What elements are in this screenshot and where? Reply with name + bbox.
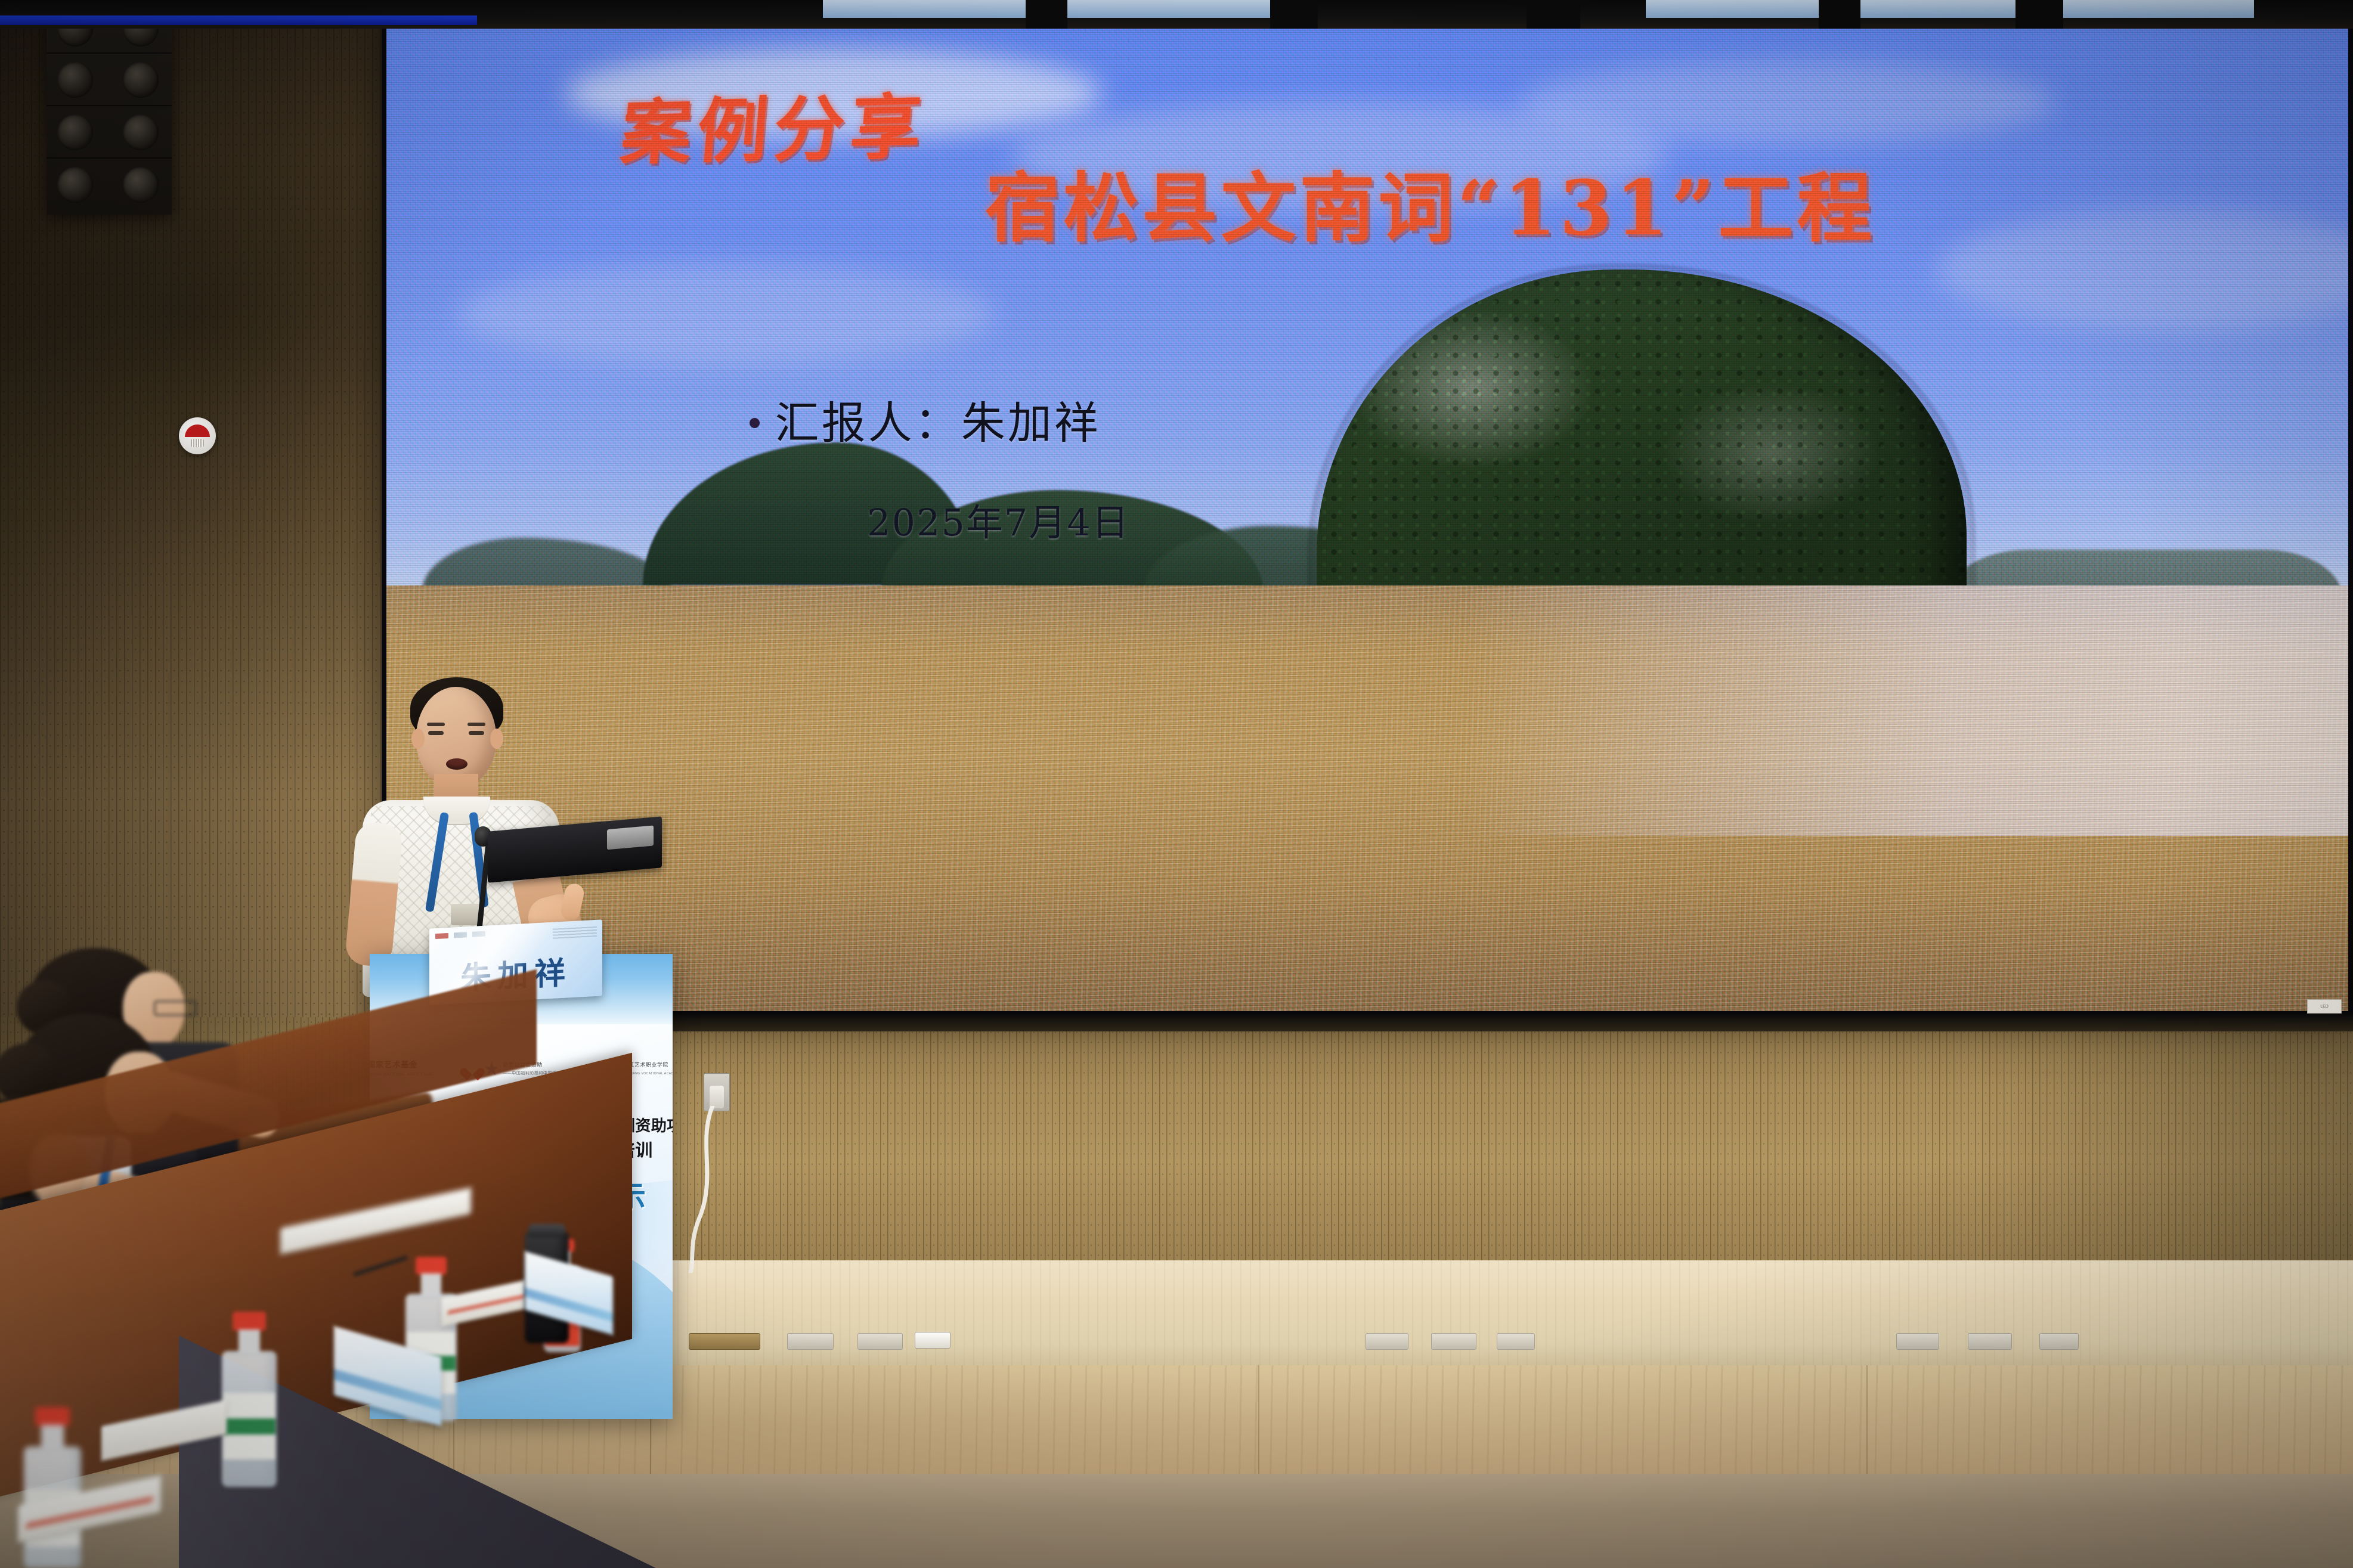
slide-kicker-text: 案例分享	[617, 70, 931, 178]
screen-bottom-shadow	[382, 1014, 2353, 1031]
led-screen-content: 案例分享 宿松县文南词“131”工程 汇报人：朱加祥 2025年7月4日	[386, 13, 2348, 1011]
fire-alarm-icon	[179, 417, 216, 454]
floor-box	[2039, 1333, 2079, 1350]
floor-box	[1497, 1333, 1535, 1350]
ceiling-band	[0, 0, 2353, 29]
water-bottle	[24, 1407, 81, 1568]
floor-box	[915, 1332, 951, 1349]
laptop-sticker	[607, 825, 654, 850]
slide-title-text: 宿松县文南词“131”工程	[984, 148, 1875, 256]
presenter-mouth	[446, 758, 467, 770]
water-bottle	[222, 1312, 277, 1490]
floor-box	[689, 1333, 760, 1350]
slide-date-text: 2025年7月4日	[867, 492, 1130, 546]
slide-presenter-line: 汇报人：朱加祥	[750, 388, 1101, 451]
floor-box	[787, 1333, 834, 1350]
presenter-thumb	[559, 882, 586, 922]
floor-box	[1968, 1333, 2012, 1350]
distant-hill	[422, 538, 673, 591]
floor-box	[1431, 1333, 1476, 1350]
bullet-dot-icon	[750, 418, 760, 428]
led-video-wall: 案例分享 宿松县文南词“131”工程 汇报人：朱加祥 2025年7月4日	[382, 8, 2353, 1016]
floor-box	[857, 1333, 903, 1350]
floor-box	[1896, 1333, 1939, 1350]
presenter-head	[416, 687, 496, 787]
wall-label: LED	[2307, 999, 2342, 1014]
floor-box	[1366, 1333, 1408, 1350]
ceiling-speaker-array	[47, 0, 172, 215]
conference-hall-scene: 案例分享 宿松县文南词“131”工程 汇报人：朱加祥 2025年7月4日 LED	[0, 0, 2353, 1568]
power-cable	[686, 1106, 722, 1273]
slide-presenter-text: 汇报人：朱加祥	[775, 398, 1101, 449]
foreground-audience-area	[0, 930, 608, 1568]
water-sheen	[1466, 585, 2349, 836]
